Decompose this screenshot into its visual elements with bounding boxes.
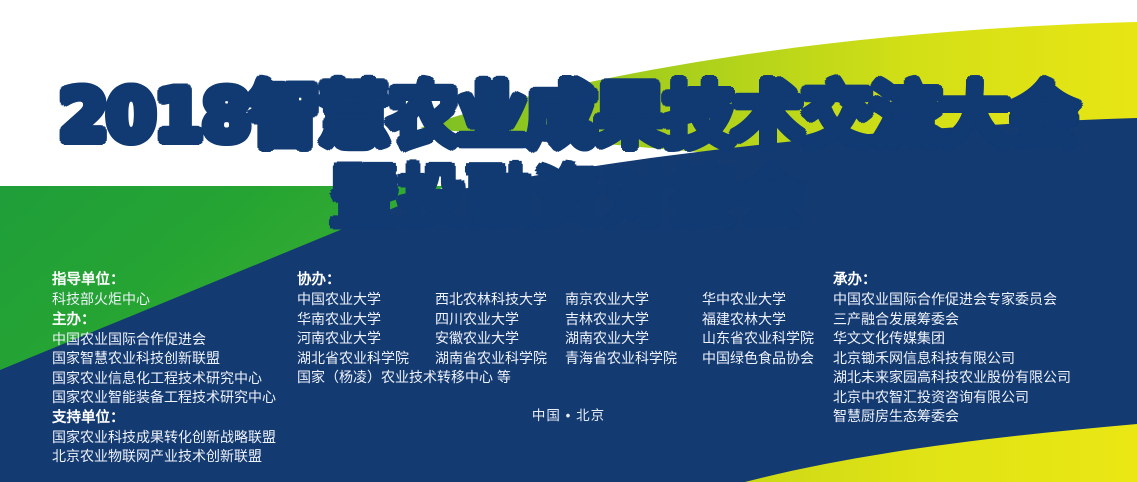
host-heading: 承办： bbox=[833, 270, 1071, 290]
co-org-r0-c0: 中国农业大学 bbox=[297, 290, 435, 310]
organizers-left-column: 指导单位： 科技部火炬中心 主办： 中国农业国际合作促进会 国家智慧农业科技创新… bbox=[52, 270, 276, 467]
co-org-r2-c0: 河南农业大学 bbox=[297, 329, 435, 349]
left-section-1-heading: 主办： bbox=[52, 310, 276, 330]
co-org-r3-c0: 湖北省农业科学院 bbox=[297, 349, 435, 369]
co-org-r3-c1: 湖南省农业科学院 bbox=[435, 349, 565, 369]
left-section-0-heading: 指导单位： bbox=[52, 270, 276, 290]
co-org-r2-c1: 安徽农业大学 bbox=[435, 329, 565, 349]
left-section-1-item-2: 国家农业信息化工程技术研究中心 bbox=[52, 369, 276, 389]
co-org-r3-c2: 青海省农业科学院 bbox=[565, 349, 702, 369]
event-banner: 2018智慧农业成果技术交流大会 暨投融资对接会 指导单位： 科技部火炬中心 主… bbox=[0, 0, 1137, 482]
co-org-r0-c2: 南京农业大学 bbox=[565, 290, 702, 310]
co-org-r0-c3: 华中农业大学 bbox=[702, 290, 814, 310]
co-org-r3-c3: 中国绿色食品协会 bbox=[702, 349, 814, 369]
co-org-r0-c1: 西北农林科技大学 bbox=[435, 290, 565, 310]
event-location: 中国 • 北京 bbox=[0, 404, 1137, 424]
co-organizers-heading: 协办： bbox=[297, 270, 814, 290]
host-item-0: 中国农业国际合作促进会专家委员会 bbox=[833, 290, 1071, 310]
left-section-1-item-1: 国家智慧农业科技创新联盟 bbox=[52, 349, 276, 369]
credits-area: 指导单位： 科技部火炬中心 主办： 中国农业国际合作促进会 国家智慧农业科技创新… bbox=[0, 0, 1137, 482]
co-org-r2-c2: 湖南农业大学 bbox=[565, 329, 702, 349]
co-org-r1-c0: 华南农业大学 bbox=[297, 310, 435, 330]
host-item-4: 湖北未来家园高科技农业股份有限公司 bbox=[833, 368, 1071, 388]
co-organizers-column: 协办： 中国农业大学 西北农林科技大学 南京农业大学 华中农业大学 华南农业大学… bbox=[297, 270, 814, 388]
host-item-2: 华文文化传媒集团 bbox=[833, 329, 1071, 349]
co-organizers-grid: 中国农业大学 西北农林科技大学 南京农业大学 华中农业大学 华南农业大学 四川农… bbox=[297, 290, 814, 388]
host-item-3: 北京锄禾网信息科技有限公司 bbox=[833, 349, 1071, 369]
left-section-0-item-0: 科技部火炬中心 bbox=[52, 290, 276, 310]
co-org-r1-c3: 福建农林大学 bbox=[702, 310, 814, 330]
left-section-2-item-1: 北京农业物联网产业技术创新联盟 bbox=[52, 447, 276, 467]
co-org-r1-c1: 四川农业大学 bbox=[435, 310, 565, 330]
host-item-1: 三产融合发展筹委会 bbox=[833, 310, 1071, 330]
co-org-r2-c3: 山东省农业科学院 bbox=[702, 329, 814, 349]
left-section-2-item-0: 国家农业科技成果转化创新战略联盟 bbox=[52, 428, 276, 448]
left-section-1-item-0: 中国农业国际合作促进会 bbox=[52, 330, 276, 350]
co-org-last-row: 国家（杨凌）农业技术转移中心 等 bbox=[297, 368, 565, 388]
co-org-r1-c2: 吉林农业大学 bbox=[565, 310, 702, 330]
